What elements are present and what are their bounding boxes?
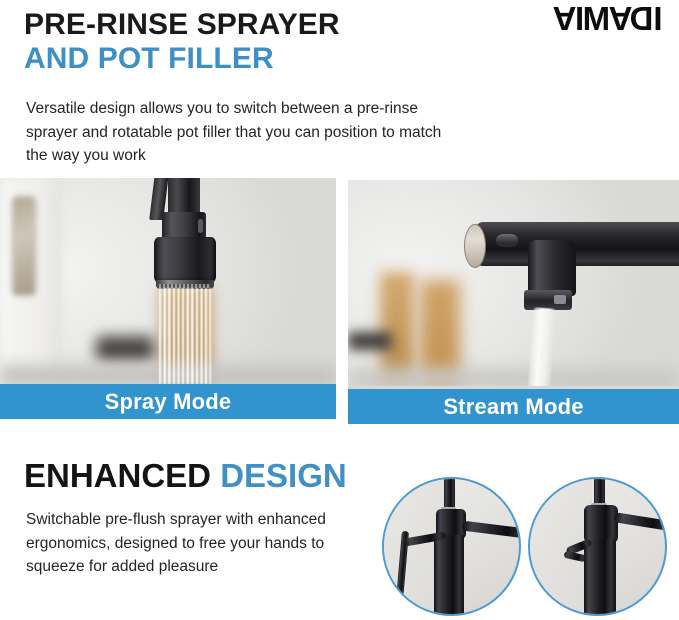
faucet-barrel <box>584 539 616 616</box>
faucet-spray-head <box>140 178 230 384</box>
headline-line-2: AND POT FILLER <box>24 42 454 76</box>
brand-logo-letter: A <box>553 2 575 35</box>
mode-panel-stream: Stream Mode <box>348 180 679 424</box>
brand-logo-letter: D <box>631 2 653 35</box>
detail-shot-circle-1 <box>382 477 521 616</box>
pot-filler-end-cap <box>464 224 486 268</box>
stream-mode-caption: Stream Mode <box>348 389 679 424</box>
pot-filler-nut <box>524 290 572 310</box>
brand-logo-letter: A <box>609 2 631 35</box>
mode-panel-spray: Spray Mode <box>0 178 336 419</box>
faucet-arm <box>462 521 521 540</box>
water-stream <box>526 307 555 386</box>
enhanced-design-heading: ENHANCED DESIGN <box>24 458 347 494</box>
faucet-sprayer-head <box>154 237 216 283</box>
dark-object-blur <box>348 332 392 350</box>
detail-shot-2-content <box>530 479 665 614</box>
stream-mode-photo <box>348 180 679 386</box>
faucet-tube <box>168 178 200 216</box>
enhanced-heading-blue: DESIGN <box>220 457 347 494</box>
detail-shot-circle-2 <box>528 477 667 616</box>
headline-line-1: PRE-RINSE SPRAYER <box>24 8 454 42</box>
detail-shot-1-content <box>384 479 519 614</box>
brand-logo-letter: I <box>575 2 583 35</box>
water-spray-jets <box>159 288 211 384</box>
faucet-arm <box>614 512 667 532</box>
brand-logo-letter: I <box>653 2 661 35</box>
headline-block: PRE-RINSE SPRAYER AND POT FILLER <box>24 8 454 75</box>
pot-filler-knob <box>496 234 518 247</box>
faucet-barrel <box>434 535 464 616</box>
enhanced-design-paragraph: Switchable pre-flush sprayer with enhanc… <box>26 508 356 579</box>
brand-logo: AIMADI <box>553 2 661 35</box>
spray-mode-caption: Spray Mode <box>0 384 336 419</box>
product-marketing-image: PRE-RINSE SPRAYER AND POT FILLER AIMADI … <box>0 0 679 620</box>
mode-panels-row: Spray Mode Stream Mode <box>0 178 679 424</box>
faucet-collar <box>584 505 618 543</box>
pot-filler-arm <box>436 206 679 386</box>
spray-mode-photo <box>0 178 336 384</box>
enhanced-heading-dark: ENHANCED <box>24 457 211 494</box>
pot-filler-joint <box>528 240 576 296</box>
intro-paragraph: Versatile design allows you to switch be… <box>26 97 446 168</box>
mirror-blur <box>12 196 36 296</box>
wooden-utensil-blur <box>380 272 414 382</box>
brand-logo-letter: M <box>583 2 609 35</box>
